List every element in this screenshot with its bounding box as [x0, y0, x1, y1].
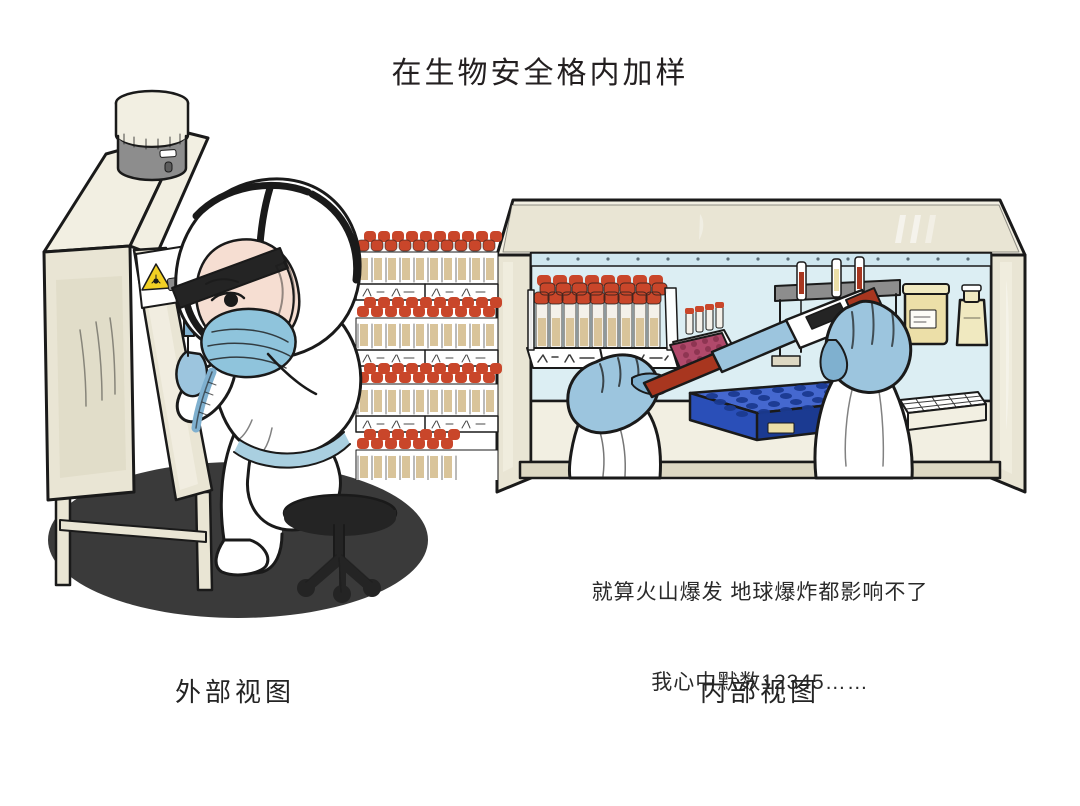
specimen-tube-racks [356, 231, 502, 498]
caption-block: 就算火山爆发 地球爆炸都影响不了 我心中默数12345…… [520, 518, 1000, 758]
blue-rack-sticker [768, 423, 794, 433]
cabinet-right-post [991, 255, 1025, 492]
label-interior-view: 内部视图 [610, 672, 910, 709]
blood-tube-rack [527, 275, 678, 368]
cabinet-hood [497, 200, 1025, 255]
air-filter-unit [116, 91, 188, 180]
exterior-view-scene [44, 91, 502, 618]
interior-view-scene [497, 200, 1025, 492]
caption-line-1: 就算火山爆发 地球爆炸都影响不了 [520, 578, 1000, 608]
label-exterior-view: 外部视图 [90, 672, 380, 709]
cabinet-left-post [497, 255, 531, 492]
illustration-canvas: 在生物安全格内加样 就算火山爆发 地球爆炸都影响不了 我心中默数12345…… … [0, 0, 1080, 806]
page-title: 在生物安全格内加样 [0, 48, 1080, 92]
